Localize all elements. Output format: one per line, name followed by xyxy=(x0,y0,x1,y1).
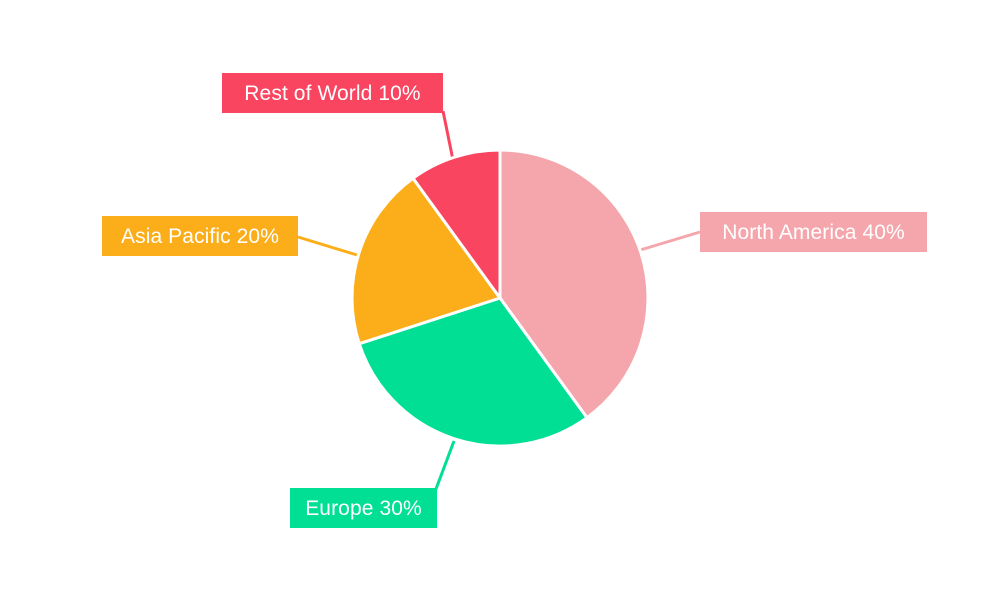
pie-label-text-europe: Europe 30% xyxy=(305,498,422,519)
pie-label-text-north-america: North America 40% xyxy=(722,222,905,243)
pie-label-rest-of-world[interactable]: Rest of World 10% xyxy=(222,73,443,113)
leader-line-europe xyxy=(436,441,454,489)
leader-line-north-america xyxy=(637,232,700,251)
pie-label-north-america[interactable]: North America 40% xyxy=(700,212,927,252)
pie-label-asia-pacific[interactable]: Asia Pacific 20% xyxy=(102,216,298,256)
pie-label-europe[interactable]: Europe 30% xyxy=(290,488,437,528)
pie-chart-canvas xyxy=(0,0,1000,600)
pie-chart: North America 40%Europe 30%Asia Pacific … xyxy=(0,0,1000,600)
leader-line-rest-of-world xyxy=(443,111,453,160)
leader-line-asia-pacific xyxy=(298,237,357,255)
pie-slice-group xyxy=(352,150,648,446)
pie-label-text-rest-of-world: Rest of World 10% xyxy=(244,83,420,104)
pie-label-text-asia-pacific: Asia Pacific 20% xyxy=(121,226,279,247)
